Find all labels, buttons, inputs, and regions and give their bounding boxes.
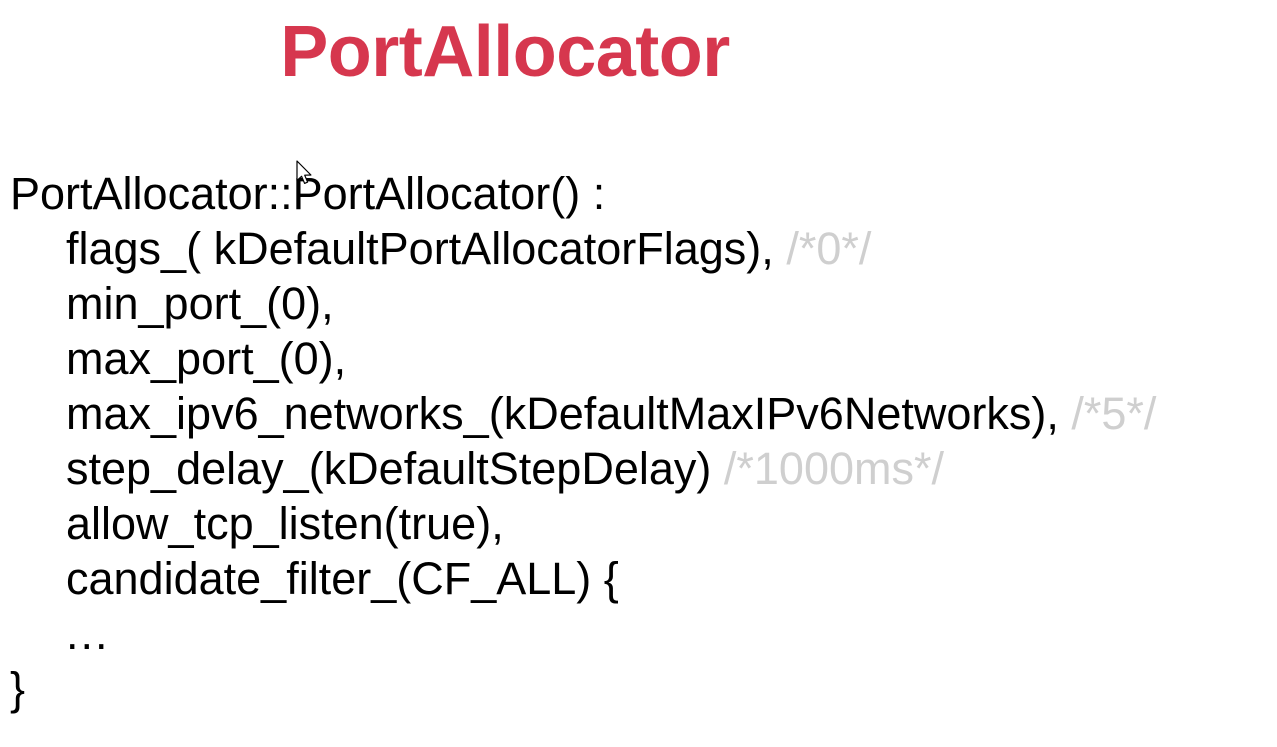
code-line: }: [10, 661, 1277, 716]
slide-canvas: PortAllocator PortAllocator::PortAllocat…: [0, 0, 1277, 747]
code-line: max_port_(0),: [10, 331, 1277, 386]
code-comment: /*1000ms*/: [724, 443, 944, 494]
code-line: flags_( kDefaultPortAllocatorFlags), /*0…: [10, 221, 1277, 276]
code-text: step_delay_(kDefaultStepDelay): [66, 443, 711, 494]
code-space: [1059, 388, 1072, 439]
code-line: candidate_filter_(CF_ALL) {: [10, 551, 1277, 606]
code-text: }: [10, 663, 25, 714]
code-text: min_port_(0),: [66, 278, 334, 329]
code-comment: /*0*/: [786, 223, 871, 274]
code-line: PortAllocator::PortAllocator() :: [10, 166, 1277, 221]
code-line: allow_tcp_listen(true),: [10, 496, 1277, 551]
code-comment: /*5*/: [1071, 388, 1156, 439]
code-text: max_port_(0),: [66, 333, 346, 384]
code-text: max_ipv6_networks_(kDefaultMaxIPv6Networ…: [66, 388, 1059, 439]
code-text: candidate_filter_(CF_ALL) {: [66, 553, 619, 604]
page-title: PortAllocator: [0, 4, 1010, 100]
code-line: step_delay_(kDefaultStepDelay) /*1000ms*…: [10, 441, 1277, 496]
code-line: max_ipv6_networks_(kDefaultMaxIPv6Networ…: [10, 386, 1277, 441]
code-block: PortAllocator::PortAllocator() :flags_( …: [10, 166, 1277, 716]
code-text: PortAllocator::PortAllocator() :: [10, 168, 605, 219]
code-line: min_port_(0),: [10, 276, 1277, 331]
code-ellipsis: ...: [66, 608, 110, 659]
code-space: [774, 223, 787, 274]
code-text: allow_tcp_listen(true),: [66, 498, 504, 549]
code-line: ...: [10, 606, 1277, 661]
code-space: [711, 443, 724, 494]
code-text: flags_( kDefaultPortAllocatorFlags),: [66, 223, 774, 274]
